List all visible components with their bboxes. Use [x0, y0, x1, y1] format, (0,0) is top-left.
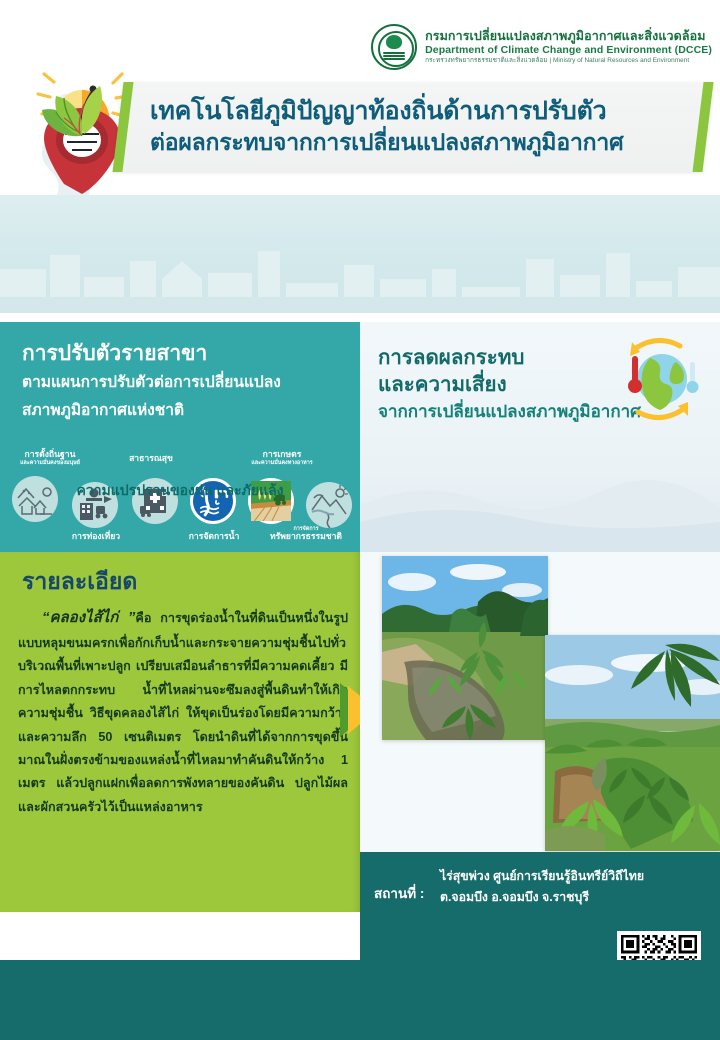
thermometer-cold-icon	[687, 362, 699, 393]
location-line-1: ไร่สุขพ่วง ศูนย์การเรียนรู้อินทรีย์วิถีไ…	[440, 866, 680, 887]
adaptation-subheading-2: สภาพภูมิอากาศแห่งชาติ	[22, 399, 342, 422]
dcce-seal-icon	[371, 24, 417, 70]
city-skyline-icon	[0, 239, 720, 313]
sector-label-health: สาธารณสุข	[108, 454, 194, 464]
department-logo-row: กรมการเปลี่ยนแปลงสภาพภูมิอากาศและสิ่งแวด…	[371, 24, 712, 70]
location-line-2: ต.จอมบึง อ.จอมบึง จ.ราชบุรี	[440, 887, 680, 908]
photo-orchard	[545, 635, 720, 851]
sector-label-water: การจัดการน้ำ	[168, 532, 260, 542]
sector-label-settlement: การตั้งถิ่นฐาน และความมั่นคงของมนุษย์	[2, 450, 98, 466]
title-line-1: เทคโนโลยีภูมิปัญญาท้องถิ่นด้านการปรับตัว	[150, 96, 708, 127]
sector-label-natural-resources: การจัดการ ทรัพยากรธรรมชาติ	[254, 526, 358, 542]
details-quote: “คลองไส้ไก่ ”	[18, 609, 135, 626]
sector-label-agriculture: การเกษตร และความมั่นคงทางอาหาร	[222, 450, 342, 466]
adaptation-heading: การปรับตัวรายสาขา	[22, 340, 342, 367]
hills-background-icon	[360, 456, 720, 552]
mitigation-panel: การลดผลกระทบ และความเสี่ยง จากการเปลี่ยน…	[360, 322, 720, 552]
sector-label-tourism: การท่องเที่ยว	[48, 532, 144, 542]
poster-root: กรมการเปลี่ยนแปลงสภาพภูมิอากาศและสิ่งแวด…	[0, 0, 720, 1040]
ministry-name: กระทรวงทรัพยากรธรรมชาติและสิ่งแวดล้อม | …	[425, 57, 712, 65]
location-value: ไร่สุขพ่วง ศูนย์การเรียนรู้อินทรีย์วิถีไ…	[440, 866, 680, 908]
header-band: กรมการเปลี่ยนแปลงสภาพภูมิอากาศและสิ่งแวด…	[0, 0, 720, 195]
department-name-th: กรมการเปลี่ยนแปลงสภาพภูมิอากาศและสิ่งแวด…	[425, 29, 712, 44]
location-label: สถานที่ :	[374, 882, 424, 904]
footer-bar: ศูนย์วิจัยการเปลี่ยนแปลงสภาพภูมิอากาศและ…	[0, 960, 720, 1040]
title-line-2: ต่อผลกระทบจากการเปลี่ยนแปลงสภาพภูมิอากาศ	[150, 128, 708, 158]
adaptation-subheading-1: ตามแผนการปรับตัวต่อการเปลี่ยนแปลง	[22, 371, 342, 394]
details-body: “คลองไส้ไก่ ”คือ การขุดร่องน้ำในที่ดินเป…	[18, 604, 348, 819]
photo-canal	[382, 556, 548, 740]
details-panel: รายละเอียด “คลองไส้ไก่ ”คือ การขุดร่องน้…	[0, 552, 360, 912]
details-text: คือ การขุดร่องน้ำในที่ดินเป็นหนึ่งในรูปแ…	[18, 611, 348, 814]
page-title: เทคโนโลยีภูมิปัญญาท้องถิ่นด้านการปรับตัว…	[128, 82, 708, 172]
mitigation-note: ความแปรปรวนของฝน และภัยแล้ง	[0, 480, 360, 502]
globe-thermometer-icon	[610, 332, 706, 428]
department-name-en: Department of Climate Change and Environ…	[425, 44, 712, 56]
technology-name-band: ชื่อเทคโนโลยี : “คลองไส้ไก่”	[0, 195, 720, 313]
details-title: รายละเอียด	[22, 564, 137, 600]
